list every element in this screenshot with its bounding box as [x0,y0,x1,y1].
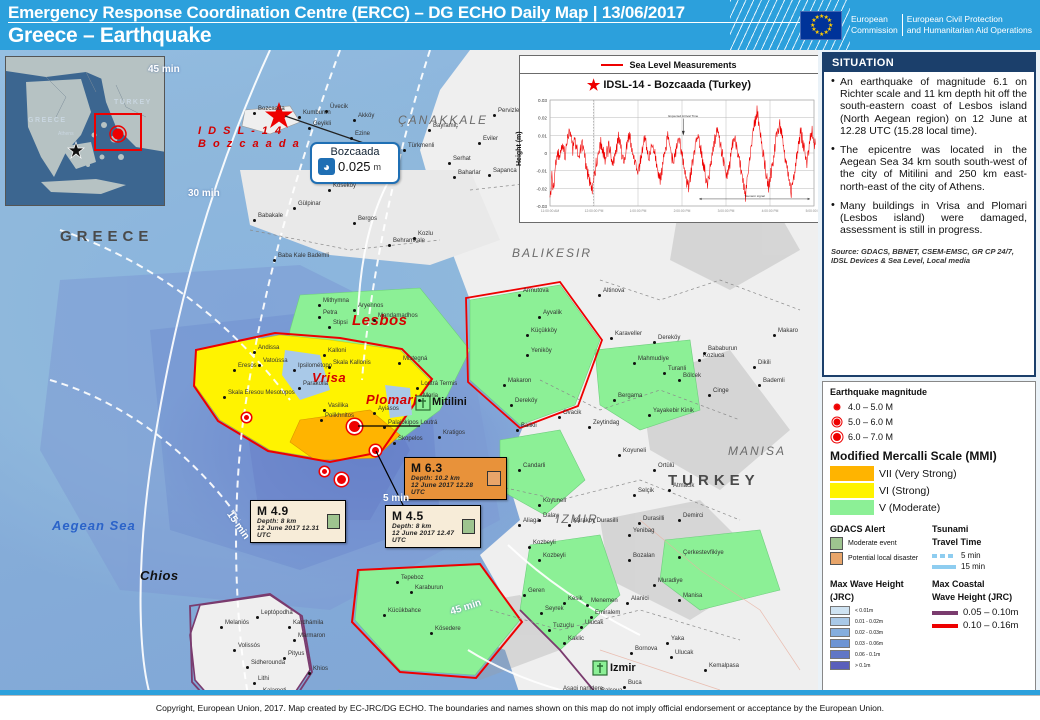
chart-y-axis-label: Height (m) [516,131,523,166]
wave-color-swatch [830,650,850,659]
legend-wave-row-1: < 0.01m [830,606,926,615]
eu-logo-text: European European Civil Protection Commi… [847,14,1036,36]
town-dot [323,409,326,412]
svg-text:Expected Arrival Time: Expected Arrival Time [668,114,698,118]
eq-magnitude-m49: M 4.9 [257,504,321,518]
eu-commission-line1: European [847,14,902,25]
magnitude-symbol-icon [830,430,843,443]
situation-panel-title: SITUATION [824,54,1034,72]
town-dot [246,666,249,669]
coastal-line-swatch [932,611,958,615]
town-dot [708,394,711,397]
eu-flag-icon: ★★★★★★★★★★★★ [800,11,842,40]
town-dot [586,604,589,607]
town-dot [493,114,496,117]
town-dot [353,309,356,312]
bozcaada-measurement-callout[interactable]: Bozcaada ◕ 0.025 m [310,142,400,184]
header-subtitle: Emergency Response Coordination Centre (… [8,3,685,23]
epicentre-marker-extra-2[interactable] [244,415,249,420]
gdacs-color-swatch [830,552,843,565]
page-header: Emergency Response Coordination Centre (… [0,0,1040,50]
town-dot [668,489,671,492]
town-dot [350,137,353,140]
city-marker-izmir [592,660,608,676]
svg-text:0: 0 [544,151,547,156]
inset-focus-box [94,113,142,151]
header-divider [8,22,808,23]
town-dot [253,682,256,685]
svg-text:-0.01: -0.01 [537,169,548,174]
legend-gdacs-title: GDACS Alert [830,524,926,534]
chart-title: ★IDSL-14 - Bozcaada (Turkey) [520,74,818,94]
legend-tsunami-label: 15 min [961,562,985,571]
town-dot [678,599,681,602]
legend-gdacs-label: Moderate event [848,540,897,547]
epicentre-marker-m49[interactable] [322,469,327,474]
town-dot [438,436,441,439]
sea-level-chart-panel[interactable]: Sea Level Measurements ★IDSL-14 - Bozcaa… [519,55,819,223]
legend-magnitude-row-1: 4.0 – 5.0 M [830,400,1028,413]
situation-bullet-2: The epicentre was located in the Aegean … [831,144,1027,193]
town-dot [670,656,673,659]
chart-legend-line-swatch [601,64,623,66]
town-dot [416,387,419,390]
town-dot [758,384,761,387]
legend-wave-label: > 0.1m [855,663,870,669]
right-side-panel: SITUATION An earthquake of magnitude 6.1… [818,50,1040,695]
legend-tsunami-row-2: 15 min [932,562,1028,571]
town-dot [653,584,656,587]
town-dot [703,352,706,355]
svg-text:0.01: 0.01 [538,133,547,138]
svg-text:0.02: 0.02 [538,116,547,121]
town-dot [325,110,328,113]
legend-magnitude-list: 4.0 – 5.0 M5.0 – 6.0 M6.0 – 7.0 M [830,400,1028,443]
situation-panel: SITUATION An earthquake of magnitude 6.1… [822,52,1036,377]
town-dot [516,429,519,432]
legend-coastal-title-l1: Max Coastal [932,579,1028,589]
eq-magnitude-m45: M 4.5 [392,509,456,523]
town-dot [223,396,226,399]
legend-mmi-title: Modified Mercalli Scale (MMI) [830,449,1028,463]
town-dot [396,581,399,584]
town-dot [538,519,541,522]
legend-wave-label: 0.03 - 0.06m [855,641,883,647]
town-dot [328,189,331,192]
legend-tsunami-title-l1: Tsunami [932,524,1028,534]
town-dot [328,326,331,329]
svg-text:11:00:00 AM: 11:00:00 AM [541,209,560,213]
town-dot [318,316,321,319]
legend-mmi-row-2: VI (Strong) [830,483,1028,498]
eq-magnitude-m63: M 6.3 [411,461,481,475]
town-dot [320,419,323,422]
town-dot [568,524,571,527]
legend-mmi-label: V (Moderate) [879,502,940,514]
town-dot [548,629,551,632]
town-dot [518,294,521,297]
legend-magnitude-row-2: 5.0 – 6.0 M [830,415,1028,428]
town-dot [273,259,276,262]
town-dot [773,334,776,337]
gdacs-alert-icon-m63 [487,471,501,486]
town-dot [233,649,236,652]
situation-bullet-list: An earthquake of magnitude 6.1 on Richte… [824,72,1034,245]
town-dot [353,119,356,122]
eu-commission-line2: Commission [847,25,902,36]
epicentre-callout-m45[interactable]: M 4.5 Depth: 8 km 12 June 2017 12.47 UTC [385,505,481,548]
town-dot [503,384,506,387]
town-dot [253,351,256,354]
epicentre-callout-m63[interactable]: M 6.3 Depth: 10.2 km 12 June 2017 12.28 … [404,457,507,500]
eq-time-m49: 12 June 2017 12.31 UTC [257,525,321,539]
svg-text:0.03: 0.03 [538,98,547,103]
town-dot [293,639,296,642]
coastal-line-swatch [932,624,958,628]
town-dot [318,304,321,307]
svg-text:2:00:00 PM: 2:00:00 PM [674,209,691,213]
town-dot [628,534,631,537]
wave-color-swatch [830,617,850,626]
legend-wave-label: 0.06 - 0.1m [855,652,880,658]
town-dot [638,522,641,525]
town-dot [588,426,591,429]
town-dot [448,162,451,165]
bozcaada-wave-value: 0.025 [338,159,371,174]
mmi-color-swatch [830,466,874,481]
town-dot [563,642,566,645]
legend-coastal-label: 0.05 – 0.10m [963,607,1018,618]
chart-star-icon: ★ [587,77,600,94]
bozcaada-wave-unit: m [374,162,382,172]
mmi-color-swatch [830,500,874,515]
eu-echo-line1: European Civil Protection [902,14,1036,25]
svg-text:Tsunami signal: Tsunami signal [744,194,765,198]
legend-magnitude-label: 5.0 – 6.0 M [848,417,893,427]
eq-depth-m49: Depth: 8 km [257,518,321,525]
town-dot [633,362,636,365]
town-dot [518,524,521,527]
eq-time-m63: 12 June 2017 12.28 UTC [411,482,481,496]
wave-color-swatch [830,628,850,637]
situation-bullet-3: Many buildings in Vrisa and Plomari (Les… [831,200,1027,237]
page-footer: Copyright, European Union, 2017. Map cre… [0,695,1040,720]
legend-mmi-label: VII (Very Strong) [879,468,957,480]
legend-tsunami-label: 5 min [961,551,981,560]
town-dot [283,657,286,660]
legend-tsunami-title-l2: Travel Time [932,537,1028,547]
legend-wave-title-l2: (JRC) [830,592,926,602]
inset-label-greece: GREECE [28,117,67,124]
town-dot [538,559,541,562]
gdacs-alert-icon-m49 [327,514,340,529]
svg-text:1:00:00 PM: 1:00:00 PM [630,209,647,213]
town-dot [298,116,301,119]
town-dot [653,341,656,344]
town-dot [538,504,541,507]
town-dot [383,426,386,429]
chart-svg: 0.030.020.010-0.01-0.02-0.0311:00:00 AM1… [520,94,820,224]
town-dot [563,602,566,605]
town-dot [308,672,311,675]
town-dot [704,669,707,672]
wave-color-swatch [830,606,850,615]
town-dot [648,414,651,417]
town-dot [413,237,416,240]
town-dot [488,174,491,177]
svg-text:12:00:00 PM: 12:00:00 PM [585,209,604,213]
town-dot [388,244,391,247]
bozcaada-callout-title: Bozcaada [312,144,398,158]
legend-gdacs-row-2: Potential local disaster [830,552,926,565]
town-dot [373,319,376,322]
town-dot [558,416,561,419]
eq-depth-m45: Depth: 8 km [392,523,456,530]
town-dot [428,129,431,132]
legend-wave-label: < 0.01m [855,608,873,614]
town-dot [618,454,621,457]
legend-wave-label: 0.01 - 0.02m [855,619,883,625]
town-dot [308,127,311,130]
svg-text:3:00:00 PM: 3:00:00 PM [718,209,735,213]
town-dot [678,556,681,559]
gdacs-alert-icon-m45 [462,519,475,534]
town-dot [526,334,529,337]
legend-tsunami-list: 5 min15 min [932,551,1028,571]
town-dot [410,591,413,594]
town-dot [298,387,301,390]
inset-label-turkey: TURKEY [114,99,152,106]
town-dot [523,594,526,597]
town-dot [373,412,376,415]
town-dot [666,642,669,645]
town-dot [528,546,531,549]
legend-wave-row-3: 0.02 - 0.03m [830,628,926,637]
town-dot [253,219,256,222]
map-legend-panel: Earthquake magnitude 4.0 – 5.0 M5.0 – 6.… [822,381,1036,691]
town-dot [753,366,756,369]
situation-bullet-1: An earthquake of magnitude 6.1 on Richte… [831,76,1027,137]
town-dot [633,494,636,497]
mmi-color-swatch [830,483,874,498]
legend-tsunami-row-1: 5 min [932,551,1028,560]
town-dot [430,632,433,635]
page-title: Greece – Earthquake [8,24,211,48]
town-dot [598,294,601,297]
town-dot [538,316,541,319]
town-dot [398,362,401,365]
legend-gdacs-list: Moderate eventPotential local disaster [830,537,926,565]
legend-gdacs-row-1: Moderate event [830,537,926,550]
town-dot [403,149,406,152]
tsunami-line-swatch [932,565,956,569]
svg-text:4:00:00 PM: 4:00:00 PM [762,209,779,213]
town-dot [233,369,236,372]
town-dot [653,469,656,472]
eq-depth-m63: Depth: 10.2 km [411,475,481,482]
town-dot [383,614,386,617]
eu-echo-line2: and Humanitarian Aid Operations [902,25,1036,36]
svg-text:-0.02: -0.02 [537,186,548,191]
legend-magnitude-label: 6.0 – 7.0 M [848,432,893,442]
situation-source-note: Source: GDACS, BBNET, CSEM-EMSC, GR CP 2… [824,245,1034,265]
town-dot [393,442,396,445]
legend-coastal-row-1: 0.05 – 0.10m [932,607,1028,618]
town-dot [626,602,629,605]
legend-gdacs-label: Potential local disaster [848,555,918,562]
legend-mmi-label: VI (Strong) [879,485,930,497]
town-dot [610,337,613,340]
town-dot [628,559,631,562]
wave-icon: ◕ [318,158,335,175]
legend-wave-row-6: > 0.1m [830,661,926,670]
chart-legend-label: Sea Level Measurements [629,60,736,70]
chart-plot-area: Height (m) 0.030.020.010-0.01-0.02-0.031… [520,94,820,224]
legend-wave-row-5: 0.06 - 0.1m [830,650,926,659]
town-dot [663,372,666,375]
wave-color-swatch [830,661,850,670]
town-dot [328,366,331,369]
epicentre-callout-m49[interactable]: M 4.9 Depth: 8 km 12 June 2017 12.31 UTC [250,500,346,543]
eu-logo: ★★★★★★★★★★★★ European European Civil Pro… [800,4,1036,46]
town-dot [580,626,583,629]
town-dot [258,364,261,367]
legend-mmi-row-3: V (Moderate) [830,500,1028,515]
town-dot [678,519,681,522]
town-dot [590,616,593,619]
town-dot [623,686,626,689]
wave-color-swatch [830,639,850,648]
town-dot [256,616,259,619]
town-dot [526,354,529,357]
legend-magnitude-row-3: 6.0 – 7.0 M [830,430,1028,443]
town-dot [220,626,223,629]
legend-coastal-title-l2: Wave Height (JRC) [932,592,1028,602]
town-dot [353,222,356,225]
chart-title-text: IDSL-14 - Bozcaada (Turkey) [603,79,751,91]
town-dot [288,626,291,629]
chart-legend: Sea Level Measurements [520,56,818,74]
legend-mmi-list: VII (Very Strong)VI (Strong)V (Moderate) [830,466,1028,515]
legend-wave-list: < 0.01m0.01 - 0.02m0.02 - 0.03m0.03 - 0.… [830,606,926,670]
legend-magnitude-title: Earthquake magnitude [830,387,1028,397]
legend-coastal-row-2: 0.10 – 0.16m [932,620,1028,631]
city-marker-mitilini [415,395,431,411]
town-dot [323,354,326,357]
legend-mmi-row-1: VII (Very Strong) [830,466,1028,481]
legend-wave-title-l1: Max Wave Height [830,579,926,589]
town-dot [453,176,456,179]
legend-wave-label: 0.02 - 0.03m [855,630,883,636]
legend-magnitude-label: 4.0 – 5.0 M [848,402,893,412]
legend-coastal-list: 0.05 – 0.10m0.10 – 0.16m [932,607,1028,631]
town-dot [253,112,256,115]
town-dot [293,207,296,210]
town-dot [293,369,296,372]
gdacs-color-swatch [830,537,843,550]
town-dot [630,652,633,655]
town-dot [418,399,421,402]
tsunami-line-swatch [932,554,956,558]
locator-inset-map[interactable]: GREECE TURKEY Athens [5,56,165,206]
town-dot [518,469,521,472]
eq-time-m45: 12 June 2017 12.47 UTC [392,530,456,544]
town-dot [478,142,481,145]
legend-wave-row-2: 0.01 - 0.02m [830,617,926,626]
magnitude-symbol-icon [830,415,843,428]
town-dot [540,612,543,615]
town-dot [510,404,513,407]
town-dot [698,359,701,362]
town-dot [678,379,681,382]
town-dot [613,399,616,402]
legend-wave-row-4: 0.03 - 0.06m [830,639,926,648]
magnitude-symbol-icon [830,400,843,413]
legend-coastal-label: 0.10 – 0.16m [963,620,1018,631]
inset-label-athens: Athens [58,131,74,137]
